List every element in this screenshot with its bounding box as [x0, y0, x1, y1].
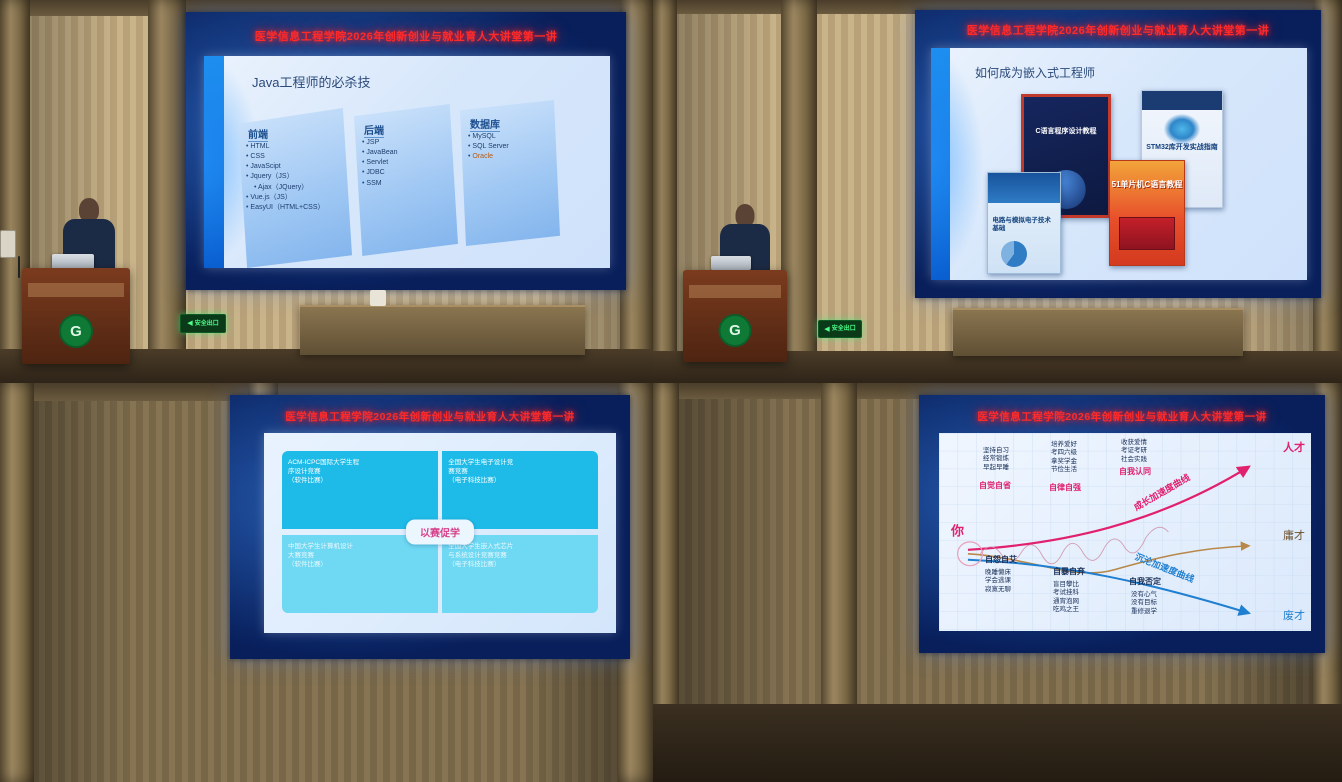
book-title: C语言程序设计教程 — [1024, 128, 1108, 137]
item: 考四六级 — [1051, 449, 1077, 457]
book-title: 51单片机C语言教程 — [1110, 180, 1184, 190]
group-self-pity-items: 晚睡懒床 学会逃课 寂寞无聊 — [985, 569, 1011, 594]
group-self-abandon-items: 盲目攀比 考试挂科 通宵泡网 吃鸡之王 — [1053, 581, 1079, 615]
exit-sign-label: 安全出口 — [832, 326, 856, 332]
quad-line: 与系统设计竞赛竞赛 — [448, 552, 592, 561]
quad-line: 大赛竞赛 — [288, 552, 432, 561]
exit-sign: ◀ 安全出口 — [180, 314, 226, 333]
list-item: SSM — [362, 179, 398, 189]
podium: G — [22, 268, 130, 364]
group-self-discipline-heading: 自律自强 — [1049, 483, 1081, 493]
slide-embedded: 如何成为嵌入式工程师 C语言程序设计教程 STM32库开发实战指南 51单片机C… — [931, 48, 1307, 280]
book-header-band — [988, 173, 1060, 203]
slide-competitions: ACM-ICPC国际大学生程 序设计竞赛 （软件比赛） 全国大学生电子设计竞 赛… — [264, 433, 616, 633]
quad-line: （软件比赛） — [288, 561, 432, 570]
list-item: Jquery（JS） — [246, 172, 325, 182]
endpoint-talent: 人才 — [1283, 441, 1305, 455]
slide-java: Java工程师的必杀技 前端 HTML CSS JavaScipt Jquery… — [204, 56, 610, 268]
butterfly-icon — [1164, 114, 1199, 144]
item: 寂寞无聊 — [985, 586, 1011, 594]
list-item: Vue.js（JS） — [246, 193, 325, 203]
event-banner: 医学信息工程学院2026年创新创业与就业育人大讲堂第一讲 — [230, 409, 630, 424]
book-header-band — [1142, 91, 1222, 110]
group-self-identity-items: 收获爱情 考证考研 社会实践 — [1121, 439, 1147, 464]
panel-top-right: 医学信息工程学院2026年创新创业与就业育人大讲堂第一讲 如何成为嵌入式工程师 … — [653, 0, 1342, 383]
list-item: MySQL — [468, 132, 509, 142]
slide-title: Java工程师的必杀技 — [252, 72, 370, 91]
dev-board-image — [1119, 217, 1175, 250]
podium-nameplate — [28, 283, 123, 296]
quad-line: 中国大学生计算机设计 — [288, 543, 432, 552]
center-label: 以赛促学 — [406, 520, 474, 545]
list-item: EasyUI（HTML+CSS） — [246, 203, 325, 213]
wall-column-left — [0, 383, 34, 782]
arrow-left-icon: ◀ — [187, 320, 192, 327]
podium-nameplate — [689, 285, 781, 298]
list-item: JSP — [362, 138, 398, 148]
book-title: STM32库开发实战指南 — [1142, 144, 1222, 153]
item: 重修退学 — [1131, 608, 1157, 616]
quad-acm-icpc: ACM-ICPC国际大学生程 序设计竞赛 （软件比赛） — [282, 451, 438, 529]
quad-line: 序设计竞赛 — [288, 468, 432, 477]
list-item: CSS — [246, 152, 325, 162]
endpoint-waste: 废才 — [1283, 609, 1305, 623]
table-item — [370, 290, 386, 306]
list-item: Servlet — [362, 158, 398, 168]
item: 考试挂科 — [1053, 589, 1079, 597]
column-heading-backend: 后端 — [364, 122, 384, 138]
quad-line: （电子科技比赛） — [448, 477, 592, 486]
projector-screen: 医学信息工程学院2026年创新创业与就业育人大讲堂第一讲 如何成为嵌入式工程师 … — [915, 10, 1321, 298]
list-item: SQL Server — [468, 142, 509, 152]
item: 吃鸡之王 — [1053, 606, 1079, 614]
laptop — [711, 256, 751, 270]
panel-top-left: 医学信息工程学院2026年创新创业与就业育人大讲堂第一讲 Java工程师的必杀技… — [0, 0, 653, 383]
quad-line: 全国大学生电子设计竞 — [448, 459, 592, 468]
list-item: HTML — [246, 142, 325, 152]
university-emblem: G — [59, 314, 93, 348]
group-self-abandon-heading: 自暴自弃 — [1053, 567, 1085, 577]
slide-swoosh — [931, 48, 984, 280]
column-list-backend: JSP JavaBean Servlet JDBC SSM — [362, 138, 398, 189]
book-electronics: 电路与模拟电子技术基础 — [987, 172, 1061, 274]
quad-embedded-design: 全国大学生嵌入式芯片 与系统设计竞赛竞赛 （电子科技比赛） — [442, 535, 598, 613]
slide-title: 如何成为嵌入式工程师 — [975, 64, 1095, 81]
quad-line: （软件比赛） — [288, 477, 432, 486]
quad-line: 赛竞赛 — [448, 468, 592, 477]
list-item: JDBC — [362, 168, 398, 178]
item: 学会逃课 — [985, 577, 1011, 585]
list-item: JavaBean — [362, 148, 398, 158]
column-heading-frontend: 前端 — [248, 126, 268, 142]
quad-computer-design: 中国大学生计算机设计 大赛竞赛 （软件比赛） — [282, 535, 438, 613]
item: 没有目标 — [1131, 599, 1157, 607]
photo-collage: 医学信息工程学院2026年创新创业与就业育人大讲堂第一讲 Java工程师的必杀技… — [0, 0, 1342, 782]
item: 社会实践 — [1121, 456, 1147, 464]
event-banner: 医学信息工程学院2026年创新创业与就业育人大讲堂第一讲 — [915, 22, 1321, 38]
item: 考证考研 — [1121, 447, 1147, 455]
item: 经常锻炼 — [983, 455, 1009, 463]
projector-screen: 医学信息工程学院2026年创新创业与就业育人大讲堂第一讲 Java工程师的必杀技… — [186, 12, 626, 290]
floor — [653, 704, 1342, 782]
slide-growth-chart: 你 坚持自习 经常锻炼 早起早睡 自觉自省 培养爱好 考四六级 拿奖学金 节俭生… — [939, 433, 1311, 631]
quad-line: ACM-ICPC国际大学生程 — [288, 459, 432, 468]
quad-electronic-design: 全国大学生电子设计竞 赛竞赛 （电子科技比赛） — [442, 451, 598, 529]
front-table — [300, 305, 585, 355]
book-title: 电路与模拟电子技术基础 — [992, 217, 1055, 233]
projector-screen: 医学信息工程学院2026年创新创业与就业育人大讲堂第一讲 ACM-ICPC国际大… — [230, 395, 630, 659]
microphone — [18, 256, 20, 278]
list-item: Oracle — [468, 152, 509, 162]
group-self-pity-heading: 自怨自艾 — [985, 555, 1017, 565]
group-self-denial-items: 没有心气 没有目标 重修退学 — [1131, 591, 1157, 616]
panel-bottom-right: 医学信息工程学院2026年创新创业与就业育人大讲堂第一讲 — [653, 383, 1342, 782]
quad-line: （电子科技比赛） — [448, 561, 592, 570]
list-item: Ajax（JQuery） — [246, 183, 325, 193]
group-self-aware-heading: 自觉自省 — [979, 481, 1011, 491]
wall-column-left — [653, 0, 677, 383]
column-heading-database: 数据库 — [470, 116, 500, 132]
front-table — [953, 308, 1243, 356]
book-51mcu: 51单片机C语言教程 — [1109, 160, 1185, 266]
group-self-denial-heading: 自我否定 — [1129, 577, 1161, 587]
exit-sign-label: 安全出口 — [195, 321, 219, 327]
event-banner: 医学信息工程学院2026年创新创业与就业育人大讲堂第一讲 — [186, 28, 626, 44]
endpoint-mediocre: 庸才 — [1283, 529, 1305, 543]
wall-box — [0, 230, 16, 258]
group-self-identity-heading: 自我认同 — [1119, 467, 1151, 477]
item: 早起早睡 — [983, 464, 1009, 472]
item: 节俭生活 — [1051, 466, 1077, 474]
origin-label: 你 — [951, 524, 964, 541]
column-list-database: MySQL SQL Server Oracle — [468, 132, 509, 162]
university-emblem: G — [719, 314, 752, 347]
quadrant-grid: ACM-ICPC国际大学生程 序设计竞赛 （软件比赛） 全国大学生电子设计竞 赛… — [282, 451, 598, 613]
group-self-discipline-items: 培养爱好 考四六级 拿奖学金 节俭生活 — [1051, 441, 1077, 475]
column-list-frontend: HTML CSS JavaScipt Jquery（JS） Ajax（JQuer… — [246, 142, 325, 213]
podium: G — [683, 270, 787, 362]
arrow-left-icon: ◀ — [824, 326, 829, 333]
event-banner: 医学信息工程学院2026年创新创业与就业育人大讲堂第一讲 — [919, 409, 1325, 424]
projector-screen: 医学信息工程学院2026年创新创业与就业育人大讲堂第一讲 — [919, 395, 1325, 653]
exit-sign: ◀ 安全出口 — [818, 320, 862, 338]
pie-chart-icon — [1001, 241, 1027, 267]
quad-line: 全国大学生嵌入式芯片 — [448, 543, 592, 552]
group-self-aware-items: 坚持自习 经常锻炼 早起早睡 — [983, 447, 1009, 472]
laptop — [52, 254, 94, 269]
list-item: JavaScipt — [246, 162, 325, 172]
panel-bottom-left: 医学信息工程学院2026年创新创业与就业育人大讲堂第一讲 ACM-ICPC国际大… — [0, 383, 653, 782]
